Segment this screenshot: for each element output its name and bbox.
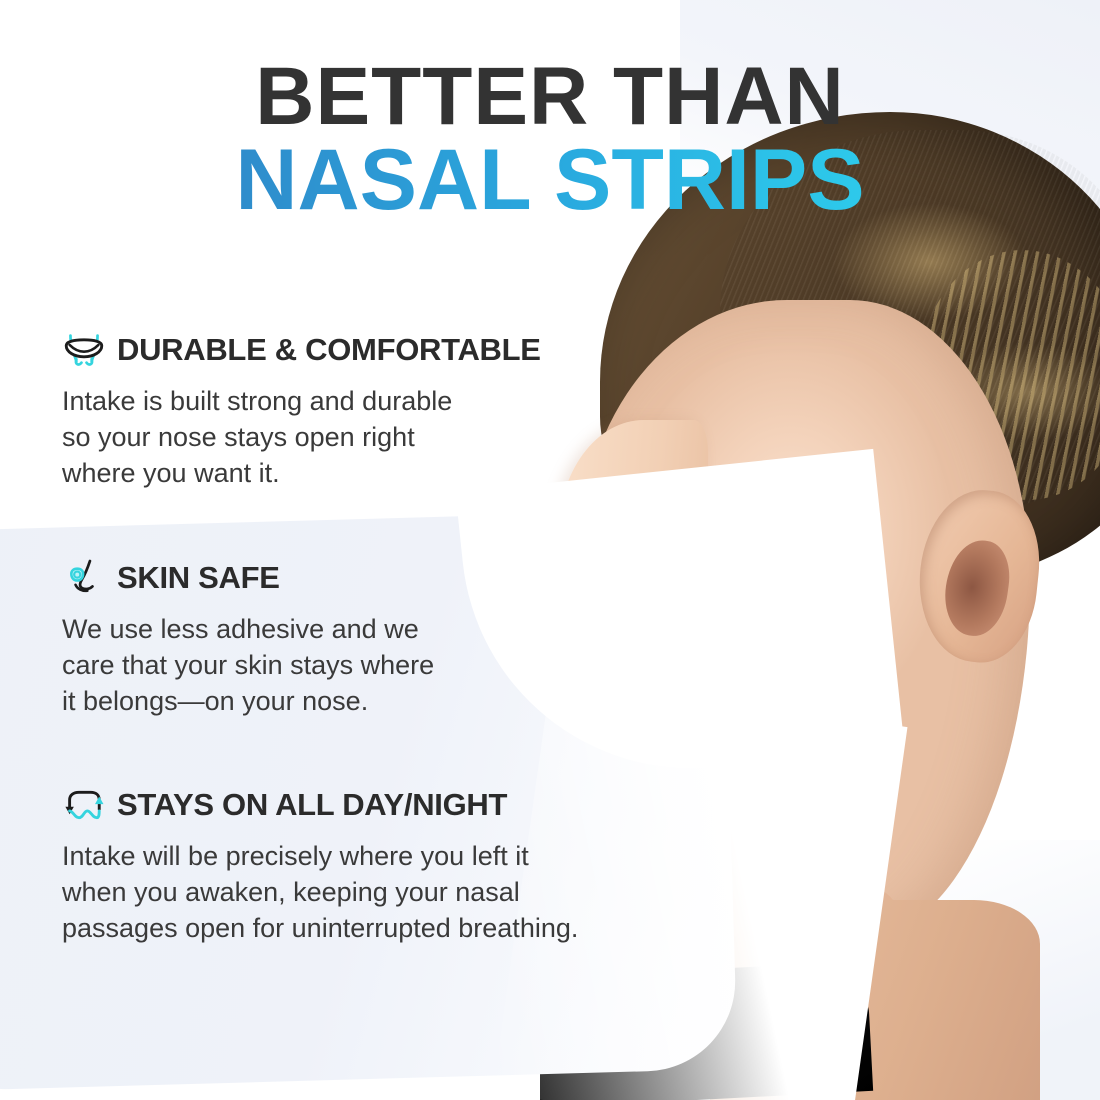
feature-list: DURABLE & COMFORTABLE Intake is built st…: [62, 330, 702, 993]
feature-header: STAYS ON ALL DAY/NIGHT: [62, 785, 702, 825]
nasal-dilator-front-icon: [62, 330, 106, 370]
feature-body: Intake will be precisely where you left …: [62, 839, 682, 947]
feature-body: Intake is built strong and durable so yo…: [62, 384, 622, 492]
nose-profile-skin-safe-icon: [62, 558, 106, 598]
headline-line-2: NASAL STRIPS: [0, 137, 1100, 225]
feature-title: STAYS ON ALL DAY/NIGHT: [117, 787, 507, 823]
feature-header: SKIN SAFE: [62, 558, 702, 598]
feature-title: DURABLE & COMFORTABLE: [117, 332, 541, 368]
feature-item: DURABLE & COMFORTABLE Intake is built st…: [62, 330, 702, 492]
feature-title: SKIN SAFE: [117, 560, 280, 596]
feature-header: DURABLE & COMFORTABLE: [62, 330, 702, 370]
headline: BETTER THAN NASAL STRIPS: [0, 58, 1100, 224]
feature-body: We use less adhesive and we care that yo…: [62, 612, 622, 720]
promo-canvas: BETTER THAN NASAL STRIPS DURABLE & COMFO…: [0, 0, 1100, 1100]
cycle-arrow-device-icon: [62, 785, 106, 825]
headline-line-1: BETTER THAN: [0, 58, 1100, 137]
feature-item: STAYS ON ALL DAY/NIGHT Intake will be pr…: [62, 785, 702, 947]
feature-item: SKIN SAFE We use less adhesive and we ca…: [62, 558, 702, 720]
